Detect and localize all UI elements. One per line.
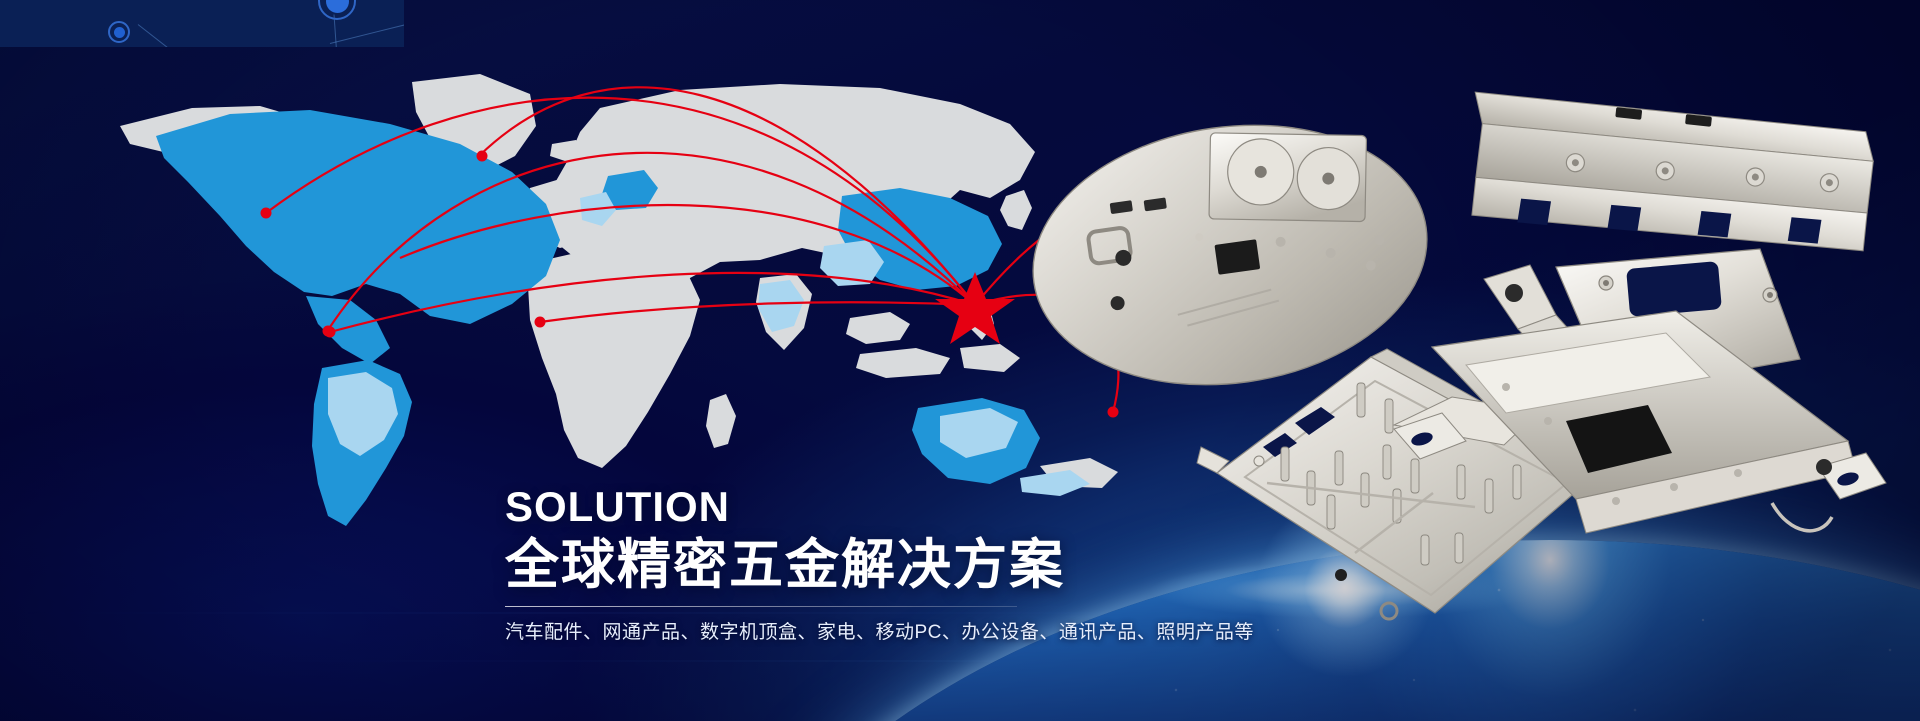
node-small-dot-icon xyxy=(114,27,125,38)
headline-divider xyxy=(505,606,1017,607)
banner-headline: 全球精密五金解决方案 xyxy=(505,538,1225,593)
tech-panel xyxy=(0,0,404,47)
banner-subline: 汽车配件、网通产品、数字机顶盒、家电、移动PC、办公设备、通讯产品、照明产品等 xyxy=(505,621,1225,646)
banner-text-block: SOLUTION 全球精密五金解决方案 汽车配件、网通产品、数字机顶盒、家电、移… xyxy=(505,486,1225,646)
banner-kicker: SOLUTION xyxy=(505,486,1225,528)
part-angle-mount-frame xyxy=(1380,255,1920,575)
solution-banner: SOLUTION 全球精密五金解决方案 汽车配件、网通产品、数字机顶盒、家电、移… xyxy=(0,0,1920,721)
part-long-rail-bracket xyxy=(1455,95,1875,275)
tech-line-1 xyxy=(138,24,233,47)
